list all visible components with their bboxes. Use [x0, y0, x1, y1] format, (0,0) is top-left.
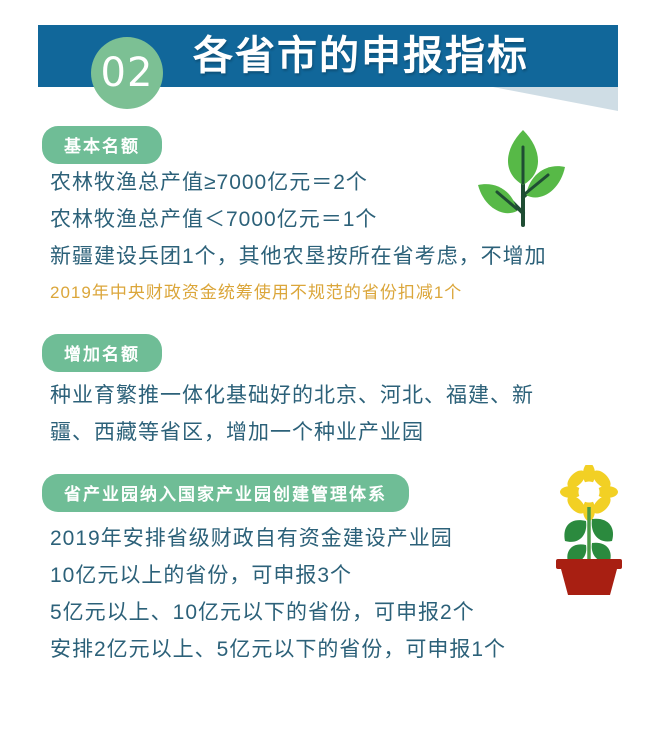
text-line-park-2: 10亿元以上的省份，可申报3个	[50, 559, 352, 589]
text-line-park-1: 2019年安排省级财政自有资金建设产业园	[50, 522, 453, 552]
section-header-banner: 02 各省市的申报指标	[38, 25, 618, 87]
section-label-basic-quota: 基本名额	[42, 126, 162, 164]
text-line-basic-note: 2019年中央财政资金统筹使用不规范的省份扣减1个	[50, 278, 462, 303]
text-line-basic-1: 农林牧渔总产值≥7000亿元＝2个	[50, 166, 368, 196]
sprout-icon	[468, 125, 578, 230]
section-label-provincial-park-system: 省产业园纳入国家产业园创建管理体系	[42, 474, 409, 512]
text-line-park-3: 5亿元以上、10亿元以下的省份，可申报2个	[50, 596, 475, 626]
header-ribbon-fold	[493, 87, 618, 111]
pill-label: 增加名额	[42, 334, 162, 372]
potted-sunflower-icon	[548, 465, 658, 595]
text-line-basic-2: 农林牧渔总产值＜7000亿元＝1个	[50, 203, 377, 233]
section-label-added-quota: 增加名额	[42, 334, 162, 372]
pill-label: 省产业园纳入国家产业园创建管理体系	[42, 474, 409, 512]
text-line-basic-3: 新疆建设兵团1个，其他农垦按所在省考虑，不增加	[50, 240, 547, 270]
pill-label: 基本名额	[42, 126, 162, 164]
text-line-park-4: 安排2亿元以上、5亿元以下的省份，可申报1个	[50, 633, 506, 663]
text-line-added-2: 疆、西藏等省区，增加一个种业产业园	[50, 416, 424, 446]
text-line-added-1: 种业育繁推一体化基础好的北京、河北、福建、新	[50, 379, 534, 409]
section-number-text: 02	[91, 37, 163, 109]
page-title: 各省市的申报指标	[193, 25, 529, 87]
